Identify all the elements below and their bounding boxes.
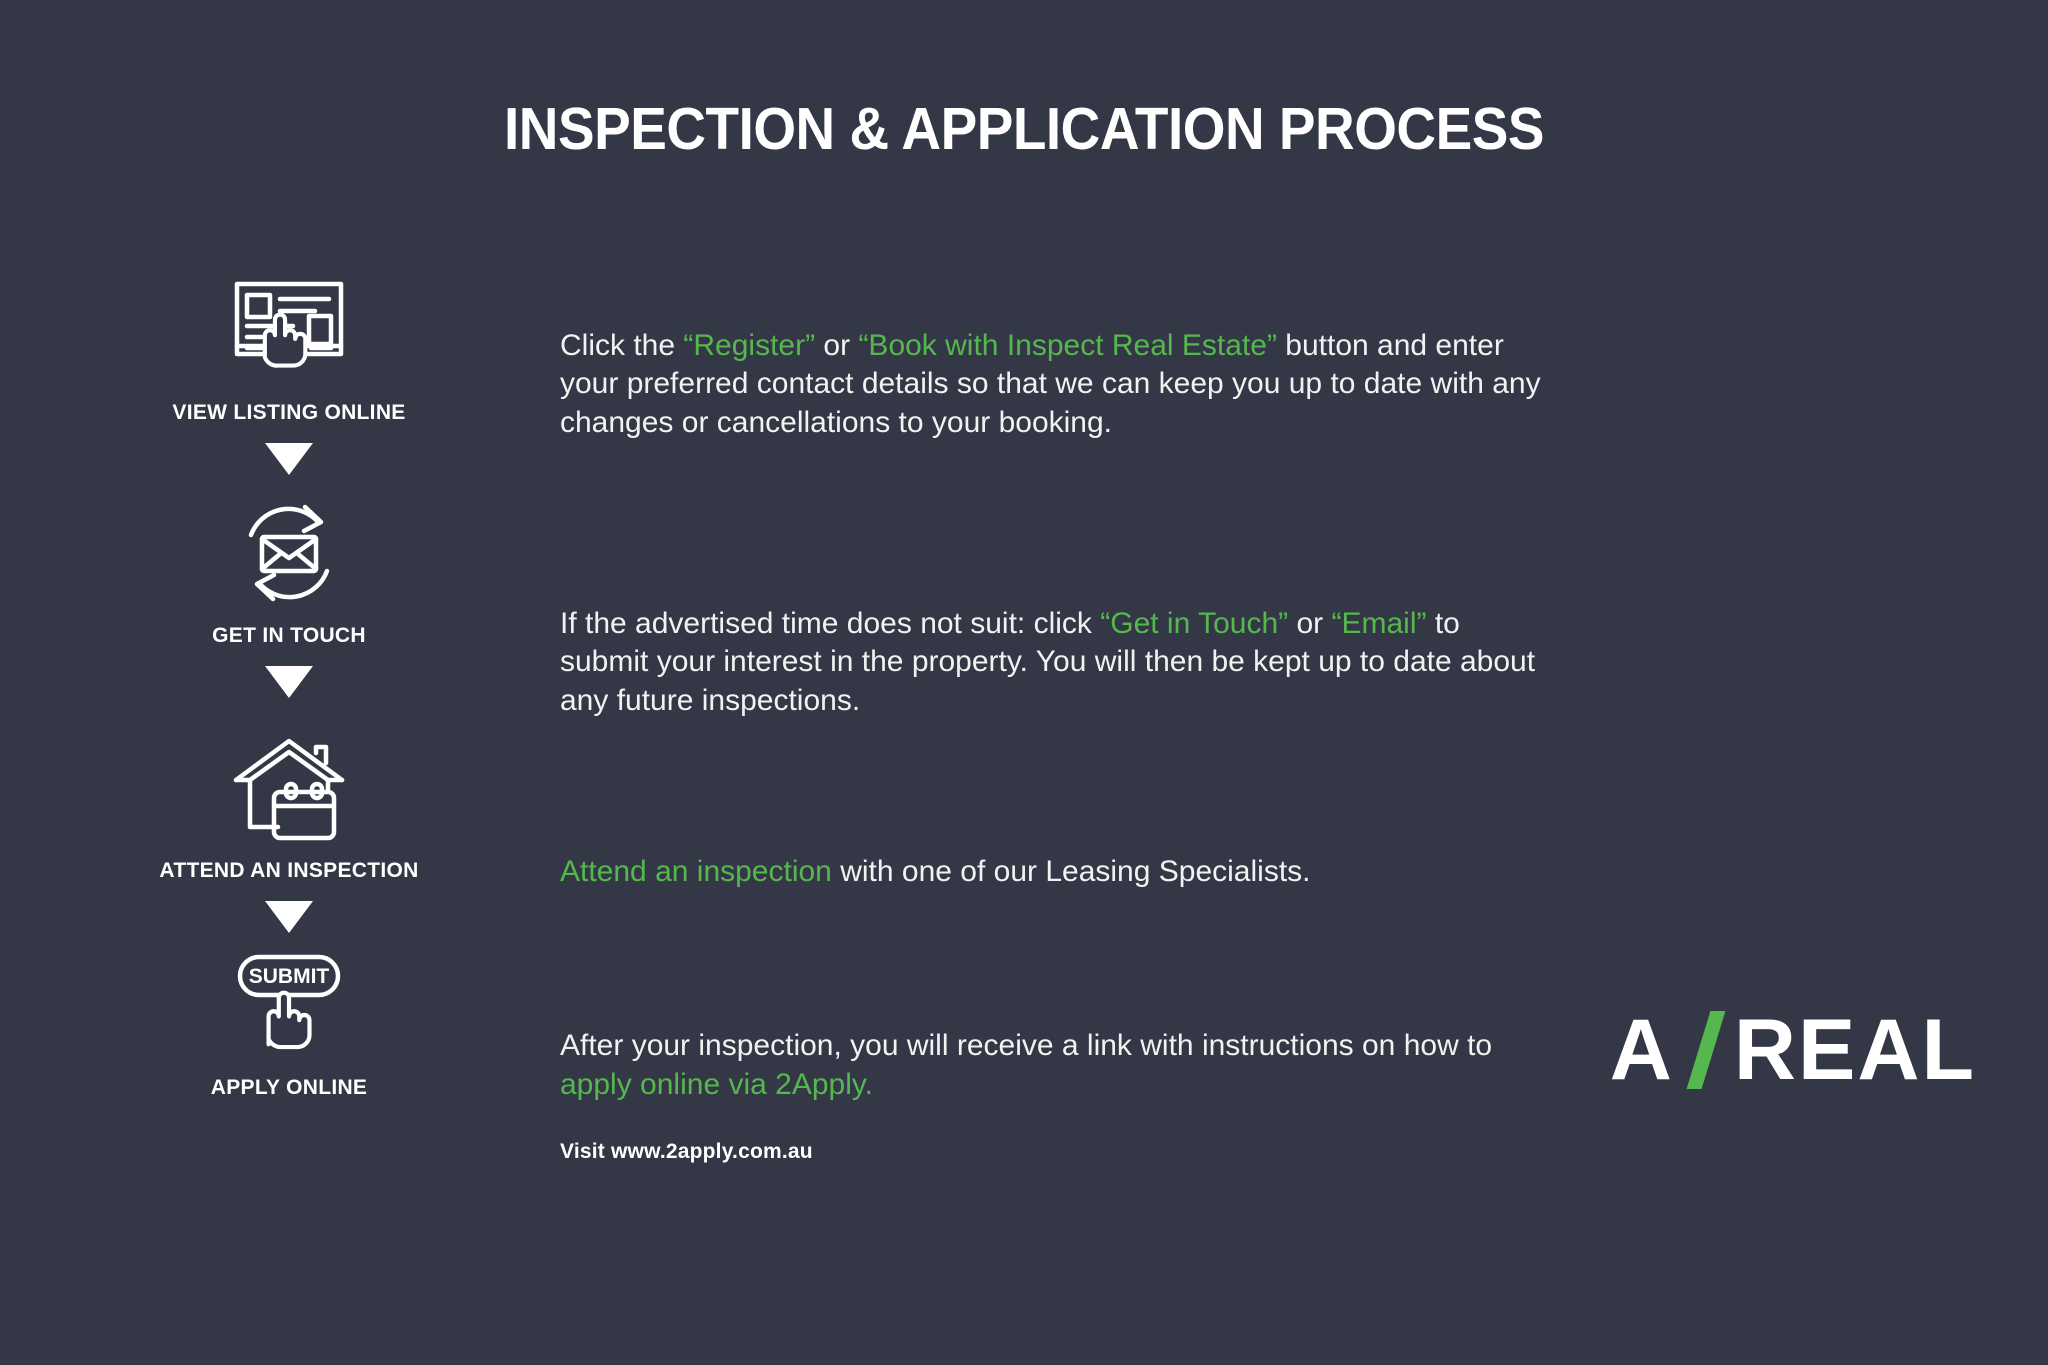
highlighted-text: “Get in Touch” [1100,607,1288,640]
step-text-column: If the advertised time does not suit: cl… [560,495,2048,720]
step-get-in-touch: GET IN TOUCH If the advertised time does… [0,495,2048,720]
step-description: Click the “Register” or “Book with Inspe… [560,327,1545,442]
step-text-column: Attend an inspection with one of our Lea… [560,730,2048,891]
step-label: ATTEND AN INSPECTION [159,859,418,883]
logo-letter-a: A [1610,1007,1674,1093]
highlighted-text: “Register” [683,329,815,362]
flow-arrow-down-icon [265,901,313,933]
submit-icon-label: SUBMIT [249,965,330,988]
step-icon-column: SUBMIT APPLY ONLINE [0,947,560,1100]
logo-word-real: REAL [1734,1007,1976,1093]
step-label: VIEW LISTING ONLINE [172,401,405,425]
envelope-refresh-icon [214,495,364,610]
step-view-listing-online: VIEW LISTING ONLINE Click the “Register”… [0,272,2048,475]
step-description: After your inspection, you will receive … [560,1027,1545,1104]
step-description: If the advertised time does not suit: cl… [560,605,1545,720]
step-icon-column: VIEW LISTING ONLINE [0,272,560,475]
step-label: APPLY ONLINE [211,1076,367,1100]
body-text: or [815,329,858,362]
step-icon-column: ATTEND AN INSPECTION [0,730,560,933]
body-text: with one of our Leasing Specialists. [832,855,1311,888]
visit-footnote: Visit www.2apply.com.au [560,1140,1978,1164]
step-label: GET IN TOUCH [212,624,366,648]
listing-window-pointer-icon [214,272,364,387]
highlighted-text: “Email” [1331,607,1426,640]
body-text: If the advertised time does not suit: cl… [560,607,1100,640]
body-text: After your inspection, you will receive … [560,1029,1492,1062]
brand-logo: A REAL [1610,1007,1976,1093]
flow-arrow-down-icon [265,666,313,698]
flow-arrow-down-icon [265,443,313,475]
logo-slash-icon [1684,1011,1728,1089]
highlighted-text: Attend an inspection [560,855,832,888]
body-text: or [1288,607,1331,640]
house-calendar-icon [214,730,364,845]
step-text-column: Click the “Register” or “Book with Inspe… [560,272,2048,442]
step-attend-an-inspection: ATTEND AN INSPECTION Attend an inspectio… [0,730,2048,933]
highlighted-text: “Book with Inspect Real Estate” [858,329,1277,362]
infographic-page: INSPECTION & APPLICATION PROCESS [0,0,2048,1365]
step-icon-column: GET IN TOUCH [0,495,560,698]
page-title: INSPECTION & APPLICATION PROCESS [72,95,1977,163]
body-text: Click the [560,329,683,362]
highlighted-text: apply online via 2Apply. [560,1068,873,1101]
step-description: Attend an inspection with one of our Lea… [560,853,1545,891]
submit-button-pointer-icon: SUBMIT [214,947,364,1062]
